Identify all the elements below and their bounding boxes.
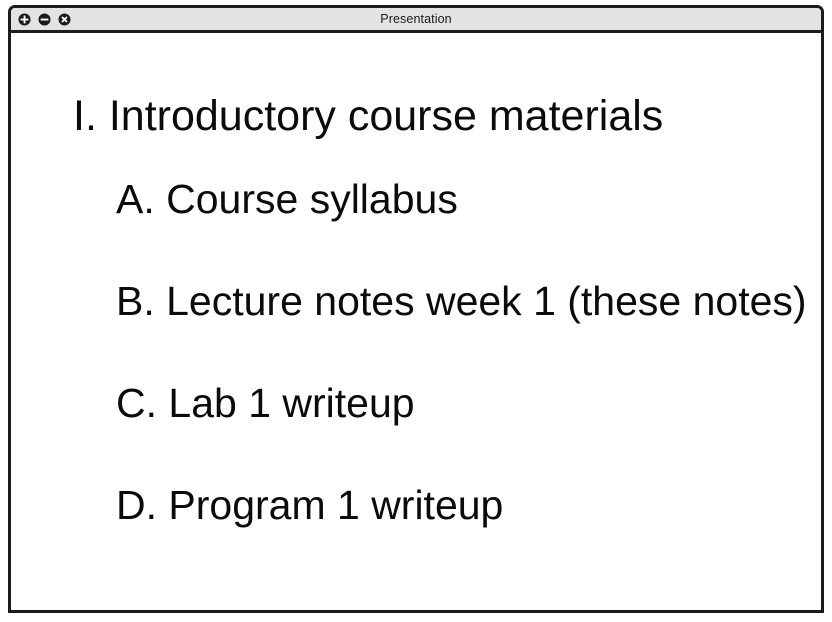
presentation-window: Presentation I. Introductory course mate…: [8, 5, 824, 613]
window-titlebar: Presentation: [11, 8, 821, 33]
slide-outline-list: A. Course syllabus B. Lecture notes week…: [116, 179, 807, 587]
slide-canvas: I. Introductory course materials A. Cour…: [11, 33, 821, 610]
list-item: D. Program 1 writeup: [116, 485, 807, 587]
window-controls: [18, 8, 71, 30]
window-title: Presentation: [11, 8, 821, 30]
minimize-icon[interactable]: [38, 13, 51, 26]
slide-heading: I. Introductory course materials: [73, 95, 663, 138]
list-item: B. Lecture notes week 1 (these notes): [116, 281, 807, 383]
maximize-icon[interactable]: [18, 13, 31, 26]
close-icon[interactable]: [58, 13, 71, 26]
list-item: A. Course syllabus: [116, 179, 807, 281]
list-item: C. Lab 1 writeup: [116, 383, 807, 485]
